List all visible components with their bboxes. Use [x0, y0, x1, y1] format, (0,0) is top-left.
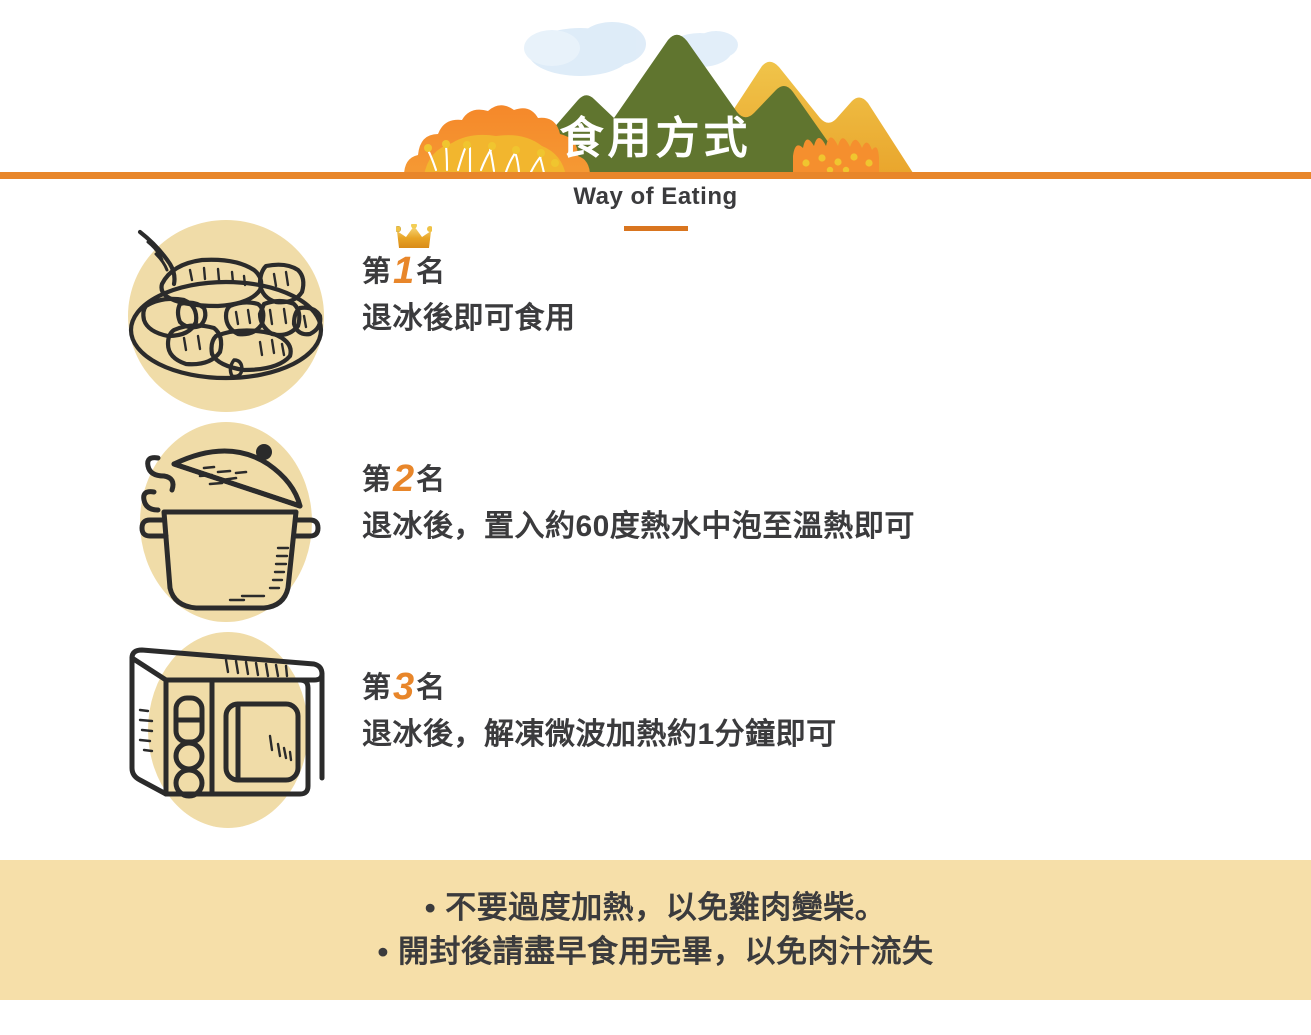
eating-methods-list: 第1名 退冰後即可食用: [0, 212, 1311, 836]
microwave-oven-icon: [118, 628, 334, 836]
rank-prefix: 第: [362, 672, 391, 704]
step-description: 退冰後，解凍微波加熱約1分鐘即可: [362, 716, 837, 754]
rank-number: 2: [391, 458, 416, 500]
rank-number: 3: [391, 666, 416, 708]
list-item: 第1名 退冰後即可食用: [0, 212, 1311, 420]
header-divider: [0, 172, 1311, 179]
rank-prefix: 第: [362, 256, 391, 288]
page-header: 食用方式: [0, 0, 1311, 180]
plate-of-sliced-chicken-icon: [118, 212, 334, 420]
crown-icon: [396, 224, 432, 250]
rank-label: 第1名: [362, 250, 576, 288]
page-title: 食用方式: [0, 117, 1311, 161]
list-item: 第2名 退冰後，置入約60度熱水中泡至溫熱即可: [0, 420, 1311, 628]
notice-banner: • 不要過度加熱，以免雞肉變柴。 • 開封後請盡早食用完畢，以免肉汁流失: [0, 860, 1311, 1000]
rank-label: 第3名: [362, 666, 837, 704]
rank-label: 第2名: [362, 458, 915, 496]
notice-line: • 開封後請盡早食用完畢，以免肉汁流失: [378, 930, 934, 974]
rank-prefix: 第: [362, 464, 391, 496]
cloud-left-icon: [524, 22, 646, 76]
rank-suffix: 名: [416, 672, 445, 704]
subtitle-underline: [624, 226, 688, 231]
notice-line: • 不要過度加熱，以免雞肉變柴。: [425, 886, 886, 930]
rank-suffix: 名: [416, 256, 445, 288]
step-description: 退冰後，置入約60度熱水中泡至溫熱即可: [362, 508, 915, 546]
steaming-pot-icon: [118, 420, 334, 628]
step-text-block: 第2名 退冰後，置入約60度熱水中泡至溫熱即可: [362, 458, 915, 546]
rank-number: 1: [391, 250, 416, 292]
list-item: 第3名 退冰後，解凍微波加熱約1分鐘即可: [0, 628, 1311, 836]
rank-suffix: 名: [416, 464, 445, 496]
step-text-block: 第1名 退冰後即可食用: [362, 250, 576, 338]
step-description: 退冰後即可食用: [362, 300, 576, 338]
step-text-block: 第3名 退冰後，解凍微波加熱約1分鐘即可: [362, 666, 837, 754]
page-subtitle: Way of Eating: [0, 183, 1311, 211]
